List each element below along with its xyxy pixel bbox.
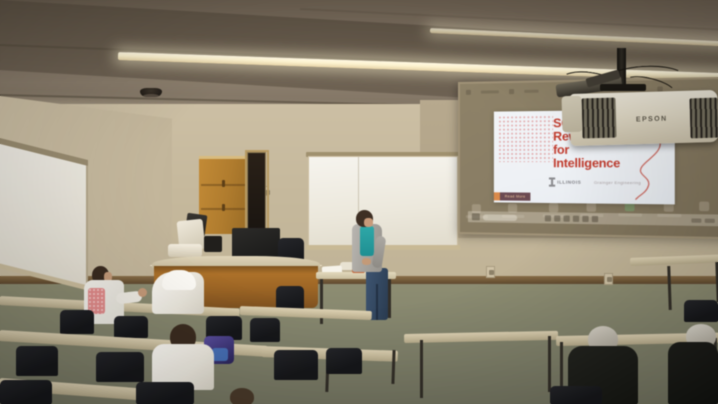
chair[interactable] <box>114 316 148 338</box>
chair[interactable] <box>274 350 318 380</box>
taskbar-system-tray[interactable] <box>691 218 714 223</box>
whiteboard-back <box>308 156 458 246</box>
attendee-hand <box>138 288 147 297</box>
chair[interactable] <box>0 380 52 404</box>
chair[interactable] <box>326 348 362 374</box>
podium-equipment <box>168 244 202 257</box>
chair[interactable] <box>60 310 94 334</box>
attendee-body <box>668 342 718 404</box>
chair[interactable] <box>550 386 602 404</box>
ceiling-sensor-dome-icon <box>140 88 162 97</box>
chair[interactable] <box>96 352 144 382</box>
table-leg <box>388 278 391 318</box>
illinois-logo: ILLINOIS <box>549 177 581 186</box>
taskbar-app-icon[interactable] <box>554 215 560 221</box>
secondary-logo-text: Grainger Engineering <box>594 180 641 185</box>
start-button-icon[interactable] <box>472 213 480 220</box>
toolbar-label <box>481 90 499 93</box>
presenter-shirt <box>360 226 374 256</box>
podium-monitor <box>232 228 280 258</box>
chair[interactable] <box>16 346 58 376</box>
desktop-icon[interactable] <box>549 203 558 212</box>
projector-vent <box>689 98 718 139</box>
wall-outlet <box>604 273 613 285</box>
attendee-hood <box>162 270 196 290</box>
presenter-hand <box>362 258 371 265</box>
windows-taskbar[interactable] <box>468 211 718 226</box>
desktop-icon[interactable] <box>699 202 709 212</box>
table-leg <box>548 336 551 392</box>
taskbar-app-icon[interactable] <box>573 215 579 221</box>
taskbar-app-icon[interactable] <box>592 215 598 221</box>
slide-curve-graphic <box>627 139 673 200</box>
chair[interactable] <box>250 318 280 342</box>
wall-outlet <box>486 266 495 278</box>
presenter-leg-split <box>376 284 378 320</box>
slide-cta-button[interactable]: Read More <box>500 192 531 200</box>
slide-cta-label: Read More <box>505 194 526 198</box>
cabinet-knob[interactable] <box>222 180 225 187</box>
clock[interactable] <box>705 218 715 222</box>
taskbar-app-icon[interactable] <box>582 215 588 221</box>
taskbar-search-input[interactable] <box>483 214 517 221</box>
attendee-head <box>230 388 254 404</box>
chair[interactable] <box>684 300 718 322</box>
taskbar-app-icon[interactable] <box>563 215 569 221</box>
presenter-face <box>364 218 373 227</box>
tray-icon[interactable] <box>691 218 701 222</box>
app-icon <box>509 89 514 94</box>
cabinet-knob[interactable] <box>222 204 225 211</box>
podium-equipment <box>204 236 222 252</box>
table-leg <box>420 340 423 398</box>
illinois-wordmark: ILLINOIS <box>557 180 581 185</box>
projector-lens <box>562 96 583 133</box>
projector-mount-plate <box>600 84 646 91</box>
app-icon <box>466 90 471 95</box>
block-i-icon <box>549 177 555 186</box>
classroom-scene: SOTA Rewards for Intelligence ILLINOIS G… <box>0 0 718 404</box>
desktop-icon[interactable] <box>587 202 597 211</box>
attendee-backpack-detail <box>212 348 228 361</box>
slide-logo-row: ILLINOIS Grainger Engineering <box>549 177 641 187</box>
chair[interactable] <box>136 382 194 404</box>
taskbar-app-icon[interactable] <box>545 215 551 221</box>
projector-brand-label: EPSON <box>636 116 668 124</box>
toolbar-label <box>524 90 538 93</box>
projector-vent <box>581 98 616 139</box>
slide-dot-pattern <box>498 115 553 162</box>
